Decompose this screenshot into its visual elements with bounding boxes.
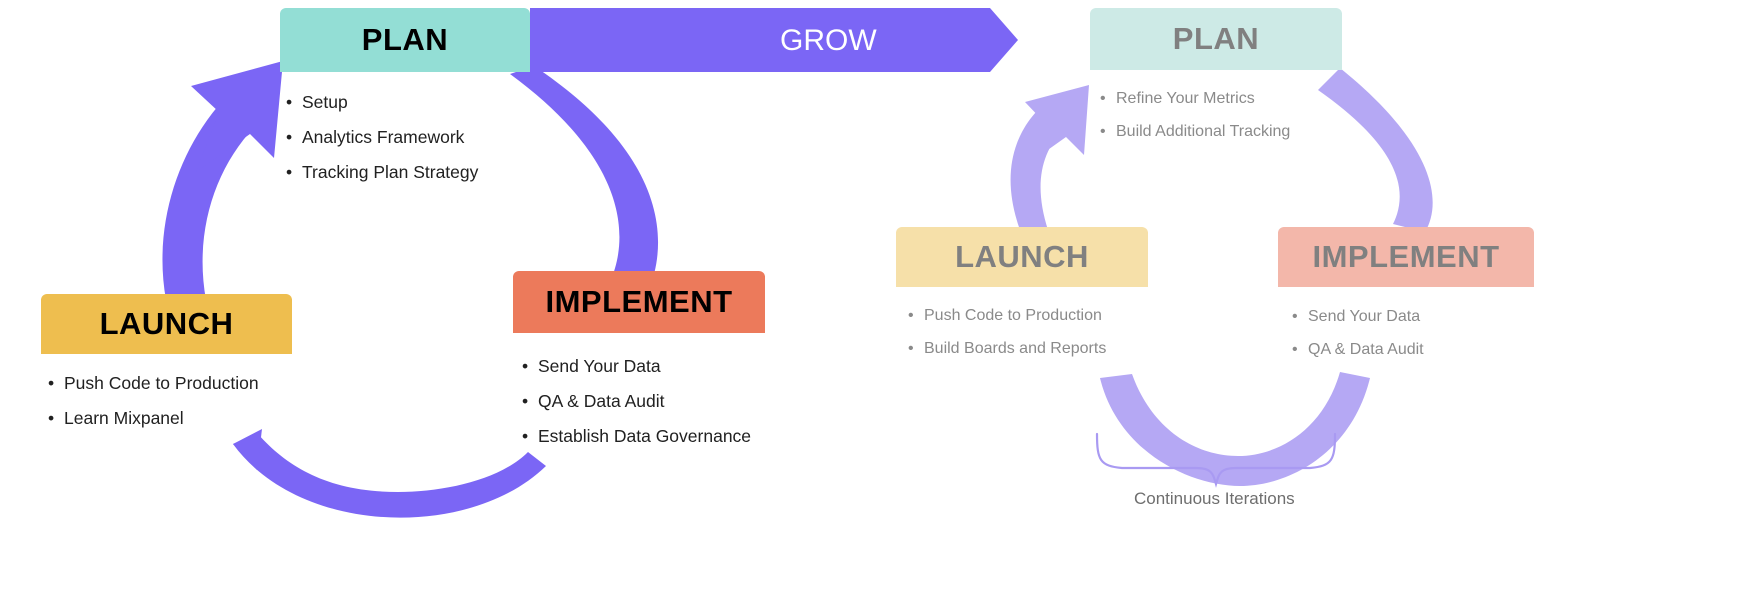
bullet-text: Establish Data Governance [538,426,751,447]
launch-header-active[interactable]: LAUNCH [41,294,292,354]
diagram-canvas: GROW PLAN • Setup • Analytics Framework … [0,0,1740,589]
bullet-text: Refine Your Metrics [1116,89,1255,108]
bullet-marker: • [286,162,302,183]
list-item: • Push Code to Production [908,306,1208,325]
bullet-text: QA & Data Audit [538,391,664,412]
list-item: • Refine Your Metrics [1100,89,1400,108]
bullet-marker: • [1100,89,1116,108]
list-item: • Send Your Data [522,356,842,377]
plan-header-faded[interactable]: PLAN [1090,8,1342,70]
launch-header-faded[interactable]: LAUNCH [896,227,1148,287]
plan-bullets-active: • Setup • Analytics Framework • Tracking… [286,92,586,197]
arrow-launch-to-plan [162,74,276,300]
launch-bullets-active: • Push Code to Production • Learn Mixpan… [48,373,348,443]
list-item: • Establish Data Governance [522,426,842,447]
bullet-marker: • [522,426,538,447]
bullet-text: Tracking Plan Strategy [302,162,478,183]
list-item: • Analytics Framework [286,127,586,148]
arrowhead-launch-to-plan [191,61,283,172]
arrowhead-launch-to-plan-faded [1025,85,1089,164]
bullet-marker: • [522,356,538,377]
list-item: • Learn Mixpanel [48,408,348,429]
bullet-text: Setup [302,92,348,113]
bullet-text: QA & Data Audit [1308,340,1424,359]
implement-bullets-faded: • Send Your Data • QA & Data Audit [1292,307,1592,373]
list-item: • QA & Data Audit [1292,340,1592,359]
list-item: • QA & Data Audit [522,391,842,412]
plan-bullets-faded: • Refine Your Metrics • Build Additional… [1100,89,1400,155]
bullet-text: Push Code to Production [64,373,259,394]
bullet-text: Send Your Data [538,356,661,377]
bullet-text: Push Code to Production [924,306,1102,325]
bullet-text: Build Additional Tracking [1116,122,1290,141]
bullet-marker: • [286,127,302,148]
continuous-iterations-label: Continuous Iterations [1134,489,1295,509]
implement-header-faded[interactable]: IMPLEMENT [1278,227,1534,287]
bullet-marker: • [1100,122,1116,141]
plan-header-active[interactable]: PLAN [280,8,530,72]
launch-bullets-faded: • Push Code to Production • Build Boards… [908,306,1208,372]
bullet-marker: • [1292,307,1308,326]
bullet-marker: • [48,408,64,429]
list-item: • Send Your Data [1292,307,1592,326]
continuous-iterations-brace [1097,434,1335,484]
bullet-marker: • [522,391,538,412]
bullet-marker: • [286,92,302,113]
list-item: • Push Code to Production [48,373,348,394]
grow-label: GROW [780,24,877,58]
grow-arrow-shape [530,8,1018,72]
list-item: • Tracking Plan Strategy [286,162,586,183]
arrow-implement-to-launch-faded [1100,372,1370,486]
implement-header-active[interactable]: IMPLEMENT [513,271,765,333]
bullet-marker: • [908,339,924,358]
list-item: • Setup [286,92,586,113]
list-item: • Build Boards and Reports [908,339,1208,358]
list-item: • Build Additional Tracking [1100,122,1400,141]
bullet-marker: • [48,373,64,394]
implement-bullets-active: • Send Your Data • QA & Data Audit • Est… [522,356,842,461]
bullet-marker: • [1292,340,1308,359]
arrow-implement-to-launch [233,434,546,518]
bullet-marker: • [908,306,924,325]
bullet-text: Build Boards and Reports [924,339,1106,358]
bullet-text: Analytics Framework [302,127,464,148]
bullet-text: Send Your Data [1308,307,1420,326]
arrow-launch-to-plan-faded [1011,106,1064,230]
bullet-text: Learn Mixpanel [64,408,184,429]
